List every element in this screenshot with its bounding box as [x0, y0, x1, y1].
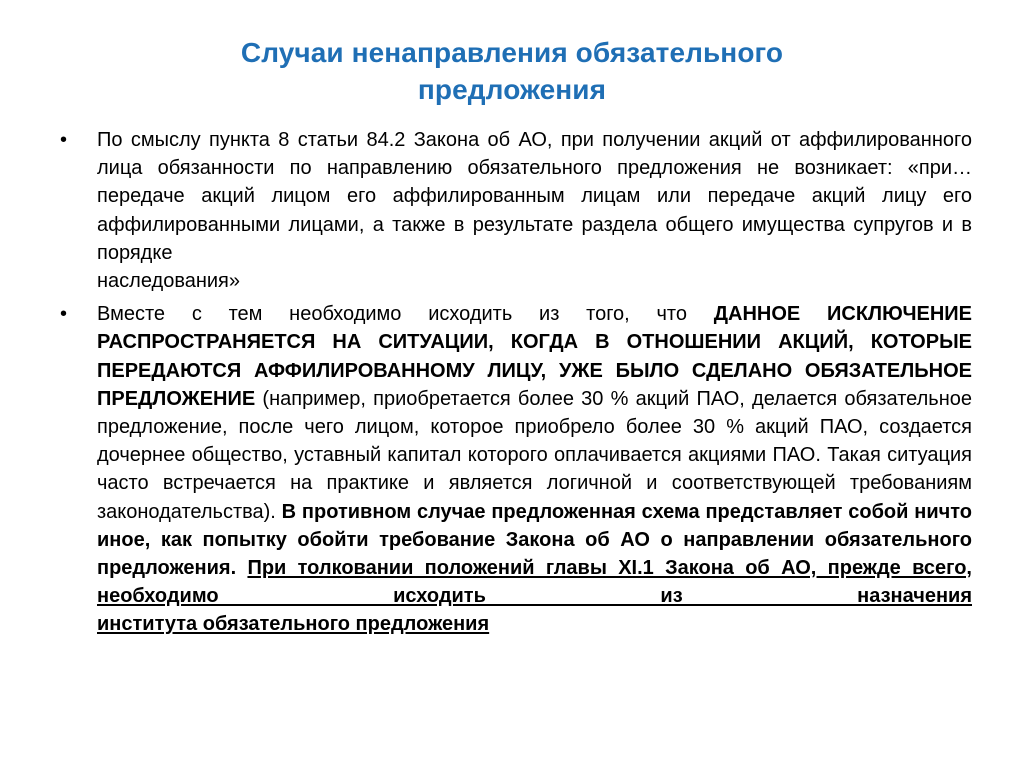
bullet-2-paragraph: Вместе с тем необходимо исходить из того…: [97, 300, 972, 638]
bullet-item-2: • Вместе с тем необходимо исходить из то…: [52, 300, 972, 638]
bullet-2-text-main: Вместе с тем необходимо исходить из того…: [97, 300, 972, 610]
slide: Случаи ненаправления обязательного предл…: [0, 0, 1024, 767]
bullet-dot-icon: •: [60, 126, 74, 154]
bullet-item-1: • По смыслу пункта 8 статьи 84.2 Закона …: [52, 126, 972, 295]
bullet-2-seg-underlined-tail: института обязательного предложения: [97, 613, 489, 635]
bullet-2-text-tail: института обязательного предложения: [97, 610, 972, 638]
slide-title: Случаи ненаправления обязательного предл…: [150, 34, 874, 108]
bullet-1-paragraph: По смыслу пункта 8 статьи 84.2 Закона об…: [97, 126, 972, 295]
bullet-1-text-tail: наследования»: [97, 267, 972, 295]
bullet-dot-icon: •: [60, 300, 74, 328]
bullet-2-seg-intro: Вместе с тем необходимо исходить из того…: [97, 303, 714, 325]
bullet-1-text-main: По смыслу пункта 8 статьи 84.2 Закона об…: [97, 126, 972, 267]
slide-body: • По смыслу пункта 8 статьи 84.2 Закона …: [52, 126, 972, 639]
